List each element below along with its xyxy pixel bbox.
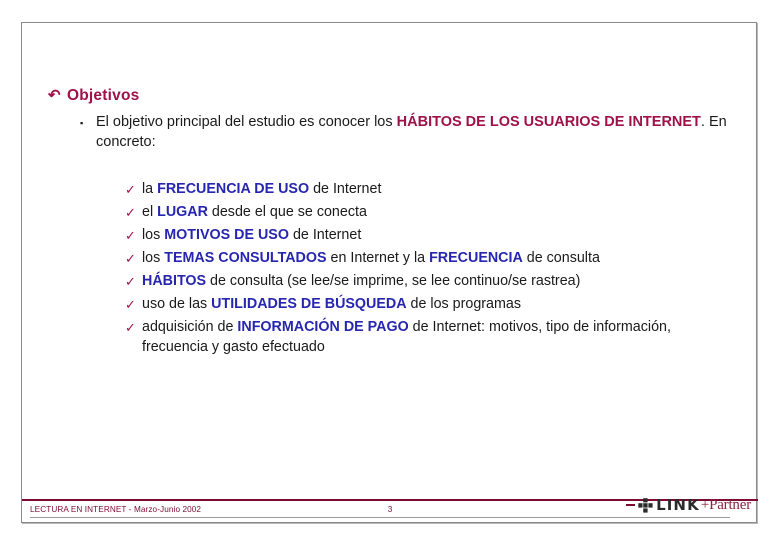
item-5-run-0: uso de las (142, 296, 211, 312)
list-item-text: la FRECUENCIA DE USO de Internet (142, 180, 738, 200)
logo-suffix-text: +Partner (701, 498, 751, 513)
item-1-run-2: desde el que se conecta (208, 204, 367, 220)
list-item: ✓los MOTIVOS DE USO de Internet (125, 226, 740, 246)
list-item-text: uso de las UTILIDADES DE BÚSQUEDA de los… (142, 295, 738, 315)
logo-brand-text: LINK (656, 498, 700, 513)
list-item: ✓los TEMAS CONSULTADOS en Internet y la … (125, 249, 740, 269)
heading-row: ↶ Objetivos (48, 87, 139, 105)
item-2-run-1: MOTIVOS DE USO (164, 227, 289, 243)
checkmark-icon: ✓ (125, 180, 142, 200)
intro-row: ▪ El objetivo principal del estudio es c… (80, 112, 730, 152)
item-3-run-1: TEMAS CONSULTADOS (164, 250, 326, 266)
checkmark-icon: ✓ (125, 203, 142, 223)
item-2-run-2: de Internet (289, 227, 361, 243)
checkmark-icon: ✓ (125, 318, 142, 338)
loop-arrow-bullet-icon: ↶ (48, 88, 67, 103)
slide-frame: ↶ Objetivos ▪ El objetivo principal del … (21, 22, 757, 523)
item-5-run-1: UTILIDADES DE BÚSQUEDA (211, 296, 406, 312)
list-item-text: adquisición de INFORMACIÓN DE PAGO de In… (142, 318, 738, 357)
checkmark-icon: ✓ (125, 226, 142, 246)
item-3-run-3: FRECUENCIA (429, 250, 523, 266)
footer: LECTURA EN INTERNET - Marzo-Junio 2002 3… (22, 501, 758, 524)
checkmark-icon: ✓ (125, 272, 142, 292)
link-cross-mark-icon (638, 498, 653, 513)
item-1-run-0: el (142, 204, 157, 220)
item-0-run-2: de Internet (309, 181, 381, 197)
slide-content: ↶ Objetivos ▪ El objetivo principal del … (22, 23, 758, 478)
item-3-run-2: en Internet y la (327, 250, 430, 266)
item-3-run-4: de consulta (523, 250, 600, 266)
checkmark-icon: ✓ (125, 249, 142, 269)
list-item-text: los MOTIVOS DE USO de Internet (142, 226, 738, 246)
list-item-text: HÁBITOS de consulta (se lee/se imprime, … (142, 272, 738, 292)
list-item: ✓adquisición de INFORMACIÓN DE PAGO de I… (125, 318, 740, 357)
item-0-run-1: FRECUENCIA DE USO (157, 181, 309, 197)
square-bullet-icon: ▪ (80, 112, 96, 133)
item-6-run-1: INFORMACIÓN DE PAGO (237, 319, 408, 335)
item-4-run-1: de consulta (se lee/se imprime, se lee c… (206, 273, 580, 289)
item-6-run-0: adquisición de (142, 319, 237, 335)
list-item: ✓uso de las UTILIDADES DE BÚSQUEDA de lo… (125, 295, 740, 315)
item-3-run-0: los (142, 250, 164, 266)
checkmark-icon: ✓ (125, 295, 142, 315)
item-4-run-0: HÁBITOS (142, 273, 206, 289)
item-0-run-0: la (142, 181, 157, 197)
list-item-text: el LUGAR desde el que se conecta (142, 203, 738, 223)
list-item-text: los TEMAS CONSULTADOS en Internet y la F… (142, 249, 738, 269)
checklist: ✓la FRECUENCIA DE USO de Internet✓el LUG… (125, 180, 740, 361)
item-2-run-0: los (142, 227, 164, 243)
item-1-run-1: LUGAR (157, 204, 208, 220)
intro-paragraph: El objetivo principal del estudio es con… (96, 112, 730, 152)
list-item: ✓la FRECUENCIA DE USO de Internet (125, 180, 740, 200)
list-item: ✓el LUGAR desde el que se conecta (125, 203, 740, 223)
intro-run-0: El objetivo principal del estudio es con… (96, 114, 397, 130)
list-item: ✓HÁBITOS de consulta (se lee/se imprime,… (125, 272, 740, 292)
page-title: Objetivos (67, 87, 139, 105)
link-partner-logo: LINK +Partner (626, 494, 751, 516)
footer-underline (30, 517, 730, 518)
logo-dash-icon (626, 504, 635, 506)
item-5-run-2: de los programas (407, 296, 521, 312)
intro-run-1: HÁBITOS DE LOS USUARIOS DE INTERNET (397, 114, 701, 130)
